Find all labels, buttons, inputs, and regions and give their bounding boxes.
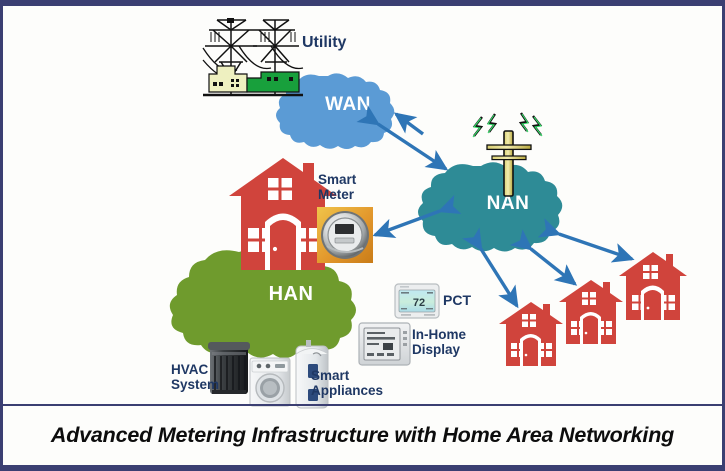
arrow-nan-house-2 — [531, 249, 575, 284]
diagram-caption: Advanced Metering Infrastructure with Ho… — [3, 410, 722, 460]
arrow-nan-house-1 — [481, 249, 517, 306]
hvac-system-label: HVAC System — [171, 362, 219, 392]
smart-meter-label: Smart Meter — [318, 172, 356, 202]
in-home-display-icon — [359, 323, 410, 365]
neighbor-house-3 — [619, 252, 687, 320]
smart-meter-icon — [317, 207, 373, 263]
arrow-wan-nan — [378, 124, 446, 169]
neighbor-house-1 — [499, 302, 563, 366]
diagram-frame: HAN WAN NAN — [0, 0, 725, 471]
washing-machine-icon — [250, 358, 290, 406]
nan-cloud: NAN — [418, 162, 562, 251]
arrow-nan-house-3 — [559, 234, 632, 259]
han-cloud-label: HAN — [269, 283, 314, 305]
pct-label: PCT — [443, 293, 471, 309]
neighbor-house-2 — [559, 280, 623, 344]
power-plant-icon — [203, 18, 303, 95]
thermostat-icon: 72 — [395, 284, 439, 318]
caption-divider — [3, 404, 722, 406]
arrow-into-wan — [396, 114, 423, 134]
thermostat-reading: 72 — [413, 297, 425, 309]
in-home-display-label: In-Home Display — [412, 327, 466, 357]
utility-label: Utility — [302, 34, 346, 52]
smart-appliances-label: Smart Appliances — [311, 368, 383, 398]
wan-cloud-label: WAN — [325, 94, 371, 115]
